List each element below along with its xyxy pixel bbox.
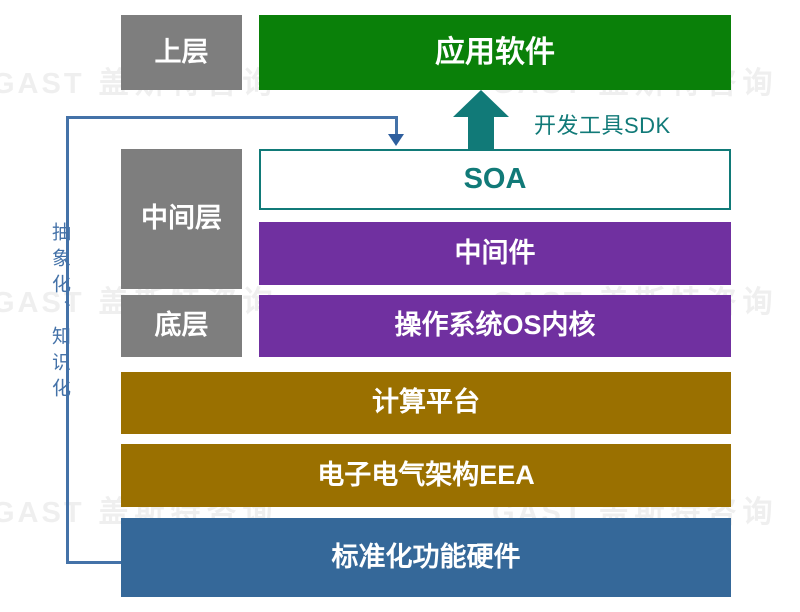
diagram-canvas: GAST盖斯特咨询 GAST盖斯特咨询 GAST盖斯特咨询 GAST盖斯特咨询 … [0,0,800,612]
abstraction-arrowhead-icon [388,134,404,146]
layer-standard-hardware: 标准化功能硬件 [121,518,731,597]
layer-eea: 电子电气架构EEA [121,444,731,507]
tier-label-upper-text: 上层 [155,38,209,68]
tier-label-middle-text: 中间层 [141,204,222,234]
tier-label-bottom-text: 底层 [155,311,209,341]
layer-application-software-label: 应用软件 [435,36,555,69]
abstraction-connector-bottom [66,561,126,564]
watermark-en: GAST [0,68,85,100]
layer-soa: SOA [259,149,731,210]
tier-label-middle: 中间层 [121,149,242,289]
sdk-arrow-icon [452,90,510,150]
layer-computing-platform-label: 计算平台 [372,388,480,418]
layer-middleware-label: 中间件 [455,239,536,269]
abstraction-connector-drop [395,116,398,136]
layer-os-kernel: 操作系统OS内核 [259,295,731,357]
layer-os-kernel-label: 操作系统OS内核 [394,311,595,341]
layer-standard-hardware-label: 标准化功能硬件 [332,543,521,573]
abstraction-connector-top [66,116,398,119]
layer-eea-label: 电子电气架构EEA [317,461,535,491]
tier-label-bottom: 底层 [121,295,242,357]
layer-application-software: 应用软件 [259,15,731,90]
abstraction-caption: 抽象化、知识化 [46,222,73,404]
layer-soa-label: SOA [464,164,527,196]
tier-label-upper: 上层 [121,15,242,90]
sdk-label: 开发工具SDK [534,108,671,140]
layer-computing-platform: 计算平台 [121,372,731,434]
layer-middleware: 中间件 [259,222,731,285]
watermark-en: GAST [0,497,85,529]
